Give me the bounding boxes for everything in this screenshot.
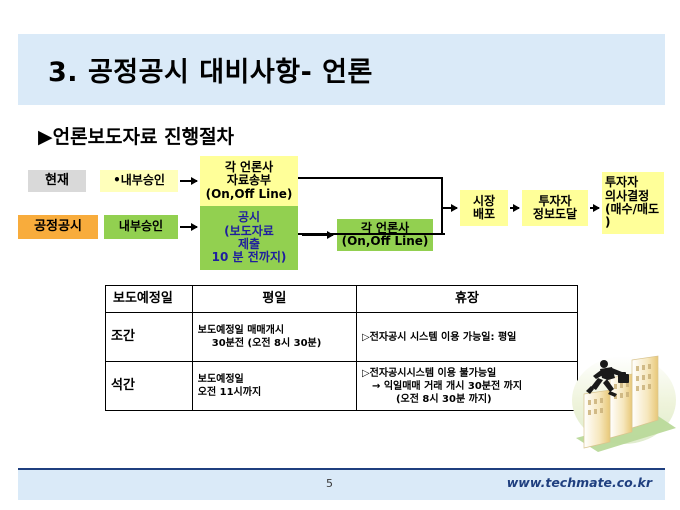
flow-box-disclosure-line2: (보도자료 (224, 225, 274, 238)
table-cell-weekday-morning: 보도예정일 매매개시 30분전 (오전 8시 30분) (192, 313, 356, 362)
slide-canvas: 3. 공정공시 대비사항- 언론 ▶언론보도자료 진행절차 현재 공정공시 •내… (0, 0, 680, 510)
schedule-table: 보도예정일 평일 휴장 조간 보도예정일 매매개시 30분전 (오전 8시 30… (105, 285, 578, 411)
flow-box-internal-approval-current-label: •내부승인 (113, 174, 165, 187)
process-flow-diagram: 현재 공정공시 •내부승인 내부승인 각 언론사 자료송부 (On,Off Li… (0, 0, 680, 290)
flow-box-investor-information-line2: 정보도달 (533, 208, 577, 221)
flow-box-fair-disclosure: 공정공시 (18, 215, 98, 239)
flow-box-press-submission-line2: 자료송부 (227, 174, 271, 187)
flow-box-current: 현재 (28, 170, 86, 192)
flow-box-investor-information-line1: 투자자 (538, 195, 571, 208)
table-header-row: 보도예정일 평일 휴장 (106, 286, 578, 313)
flow-box-disclosure: 공시 (보도자료 제출 10 분 전까지) (200, 206, 298, 270)
flow-box-market-distribution-line2: 배포 (473, 208, 495, 221)
table-cell-weekday-morning-line2: 30분전 (오전 8시 30분) (198, 337, 351, 350)
table-cell-holiday-evening: ▷전자공시시스템 이용 불가능일 → 익일매매 거래 개시 30분전 까지 (오… (356, 362, 577, 411)
flow-box-market-distribution: 시장 배포 (460, 190, 508, 226)
flow-box-press-submission: 각 언론사 자료송부 (On,Off Line) (200, 156, 298, 206)
flow-box-press-submission-line3: (On,Off Line) (206, 188, 293, 201)
flow-arrow-icon-current-to-press (180, 180, 197, 182)
flow-box-investor-decision-line4: ) (605, 216, 610, 229)
table-cell-weekday-evening-line1: 보도예정일 (198, 373, 351, 386)
flow-arrow-icon-investor-info-to-decision (590, 207, 599, 209)
flow-connector-stub (433, 233, 445, 235)
table-cell-label-morning: 조간 (106, 313, 193, 362)
table-cell-weekday-evening-line2: 오전 11시까지 (198, 386, 351, 399)
table-row: 석간 보도예정일 오전 11시까지 ▷전자공시시스템 이용 불가능일 → 익일매… (106, 362, 578, 411)
table-cell-label-evening: 석간 (106, 362, 193, 411)
flow-box-investor-decision: 투자자 의사결정 (매수/매도 ) (602, 172, 664, 234)
table-header-report-date: 보도예정일 (106, 286, 193, 313)
flow-box-fair-disclosure-label: 공정공시 (34, 220, 82, 235)
flow-box-internal-approval-fair: 내부승인 (104, 215, 178, 239)
flow-box-investor-decision-line2: 의사결정 (605, 190, 649, 203)
flow-box-internal-approval-fair-label: 내부승인 (119, 220, 163, 233)
flow-box-investor-decision-line1: 투자자 (605, 176, 638, 189)
flow-box-current-label: 현재 (45, 174, 69, 189)
businessman-buildings-clipart-icon (558, 342, 680, 462)
table-cell-holiday-evening-line1: ▷전자공시시스템 이용 불가능일 (362, 367, 572, 380)
flow-arrow-icon-market-to-investor-info (510, 207, 519, 209)
flow-box-disclosure-line4: 10 분 전까지) (212, 251, 287, 264)
flow-box-each-press-company-line2: (On,Off Line) (342, 235, 429, 248)
flow-box-investor-decision-line3: (매수/매도 (605, 203, 659, 216)
flow-box-internal-approval-current: •내부승인 (100, 170, 178, 192)
table-cell-weekday-morning-line1: 보도예정일 매매개시 (198, 324, 351, 337)
flow-box-investor-information: 투자자 정보도달 (522, 190, 588, 226)
flow-box-disclosure-line1: 공시 (238, 211, 260, 224)
flow-box-market-distribution-line1: 시장 (473, 195, 495, 208)
table-cell-holiday-evening-line3: (오전 8시 30분 까지) (362, 393, 572, 406)
table-header-holiday: 휴장 (356, 286, 577, 313)
table-cell-holiday-evening-line2: → 익일매매 거래 개시 30분전 까지 (362, 380, 572, 393)
table-cell-weekday-evening: 보도예정일 오전 11시까지 (192, 362, 356, 411)
site-url: www.techmate.co.kr (507, 475, 652, 490)
page-number: 5 (326, 477, 333, 490)
table-row: 조간 보도예정일 매매개시 30분전 (오전 8시 30분) ▷전자공시 시스템… (106, 313, 578, 362)
table-header-weekday: 평일 (192, 286, 356, 313)
flow-arrow-icon-into-market (443, 207, 457, 209)
table-cell-holiday-morning-line1: ▷전자공시 시스템 이용 가능일: 평일 (362, 331, 572, 344)
flow-arrow-icon-fair-to-disclosure (180, 226, 197, 228)
table-cell-holiday-morning: ▷전자공시 시스템 이용 가능일: 평일 (356, 313, 577, 362)
flow-connector-elbow (298, 177, 443, 235)
